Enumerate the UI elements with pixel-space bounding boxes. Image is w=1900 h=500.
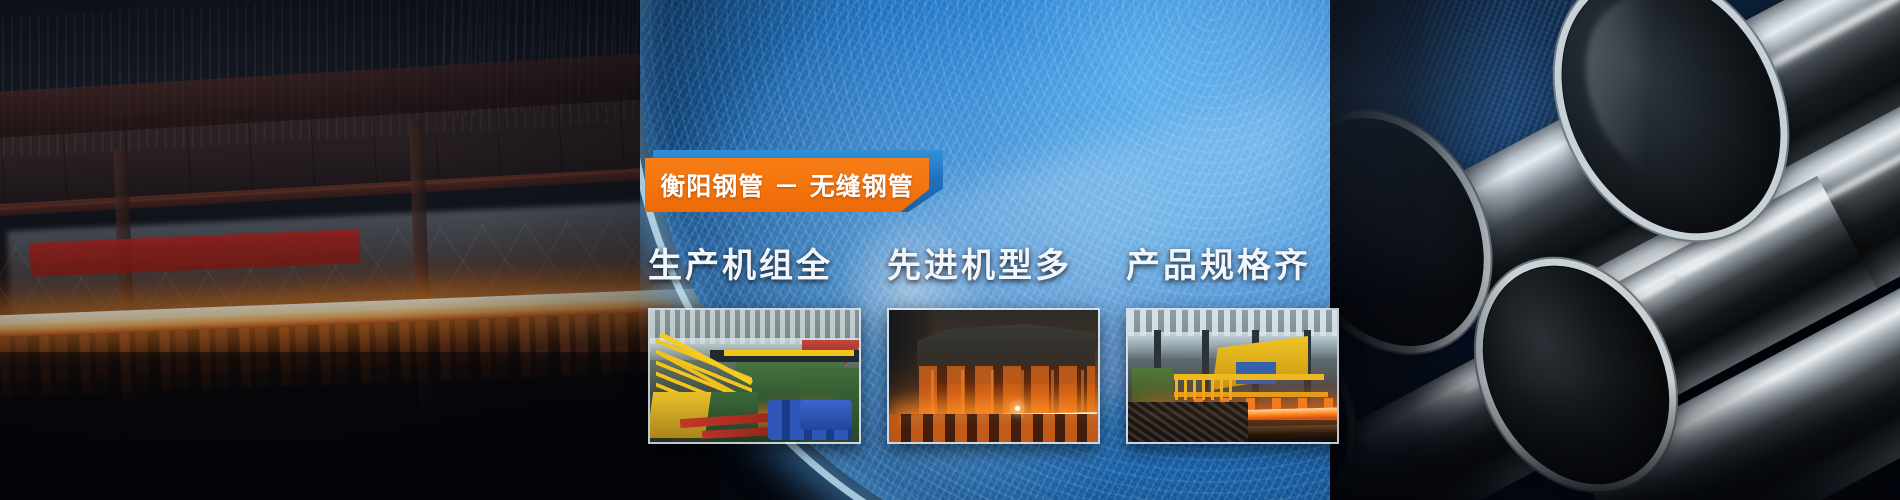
- thumbnail-3-scene: [1128, 310, 1337, 442]
- thumbnail-2-scene: [889, 310, 1098, 442]
- brand-tag-orange-plate: 衡阳钢管 － 无缝钢管: [645, 158, 929, 212]
- hero-banner: 衡阳钢管 － 无缝钢管 生产机组全 先进机型多 产品规格齐: [0, 0, 1900, 500]
- thumbnail-3[interactable]: [1126, 308, 1339, 444]
- t2-spark: [1015, 406, 1020, 411]
- t3-blue-unit: [1236, 362, 1276, 384]
- banner-content: 衡阳钢管 － 无缝钢管 生产机组全 先进机型多 产品规格齐: [0, 0, 1900, 500]
- t2-roller-bed: [889, 414, 1098, 442]
- t1-blue-motor-front: [800, 400, 852, 430]
- thumbnail-2[interactable]: [887, 308, 1100, 444]
- brand-tag: 衡阳钢管 － 无缝钢管: [645, 150, 945, 220]
- thumbnail-1[interactable]: [648, 308, 861, 444]
- t3-yellow-platform: [1166, 380, 1236, 400]
- thumbnail-1-scene: [650, 310, 859, 442]
- headline-item-3: 产品规格齐: [1126, 238, 1311, 287]
- headline-item-1: 生产机组全: [648, 238, 833, 287]
- thumbnail-strip: [648, 308, 1339, 444]
- t1-platform-rail: [724, 350, 854, 356]
- t3-scrap-pile: [1128, 402, 1248, 442]
- headline-row: 生产机组全 先进机型多 产品规格齐: [648, 238, 1311, 287]
- headline-item-2: 先进机型多: [887, 238, 1072, 287]
- brand-tag-label: 衡阳钢管 － 无缝钢管: [660, 167, 913, 203]
